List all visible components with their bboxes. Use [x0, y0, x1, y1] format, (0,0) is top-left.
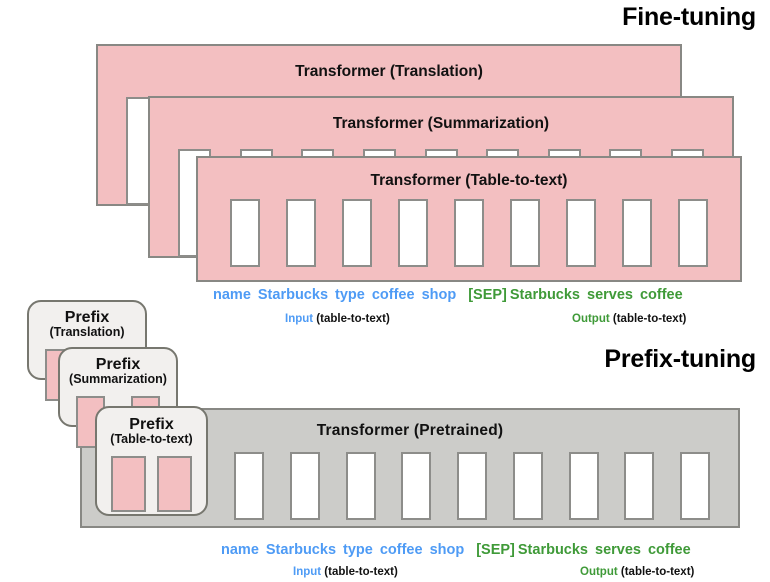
transformer-block-table-to-text: Transformer (Table-to-text)	[196, 156, 742, 282]
token-cell	[510, 199, 540, 267]
output-token: coffee	[648, 542, 691, 558]
output-token: coffee	[640, 287, 683, 303]
prefix-box-label: Prefix (Translation)	[29, 310, 145, 339]
input-token: shop	[430, 542, 465, 558]
token-cell	[234, 452, 264, 520]
token-cell	[457, 452, 487, 520]
token-cell	[286, 199, 316, 267]
input-token: name	[213, 287, 251, 303]
transformer-block-label: Transformer (Summarization)	[150, 115, 732, 133]
output-token: serves	[595, 542, 641, 558]
token-cell	[680, 452, 710, 520]
token-sequence-prefix-tuning: name Starbucks type coffee shop [SEP] St…	[221, 542, 691, 558]
input-token: name	[221, 542, 259, 558]
output-token: [SEP]	[476, 542, 515, 558]
input-token: type	[335, 287, 365, 303]
prefix-activation-cell	[111, 456, 146, 512]
input-token: shop	[422, 287, 457, 303]
token-cell	[401, 452, 431, 520]
token-cell	[454, 199, 484, 267]
input-token: Starbucks	[258, 287, 328, 303]
token-cell	[346, 452, 376, 520]
input-token: coffee	[372, 287, 415, 303]
token-cell	[513, 452, 543, 520]
prefix-box-label: Prefix (Summarization)	[60, 357, 176, 386]
input-token: coffee	[380, 542, 423, 558]
prefix-box-table-to-text: Prefix (Table-to-text)	[95, 406, 208, 516]
prefix-task: (Summarization)	[60, 373, 176, 386]
token-sequence-fine-tuning: name Starbucks type coffee shop [SEP] St…	[213, 287, 683, 303]
input-token: type	[343, 542, 373, 558]
output-caption-task: (table-to-text)	[610, 313, 687, 325]
output-token: serves	[587, 287, 633, 303]
prefix-activation-cell	[157, 456, 192, 512]
prefix-title: Prefix	[129, 416, 173, 433]
token-cell	[398, 199, 428, 267]
prefix-task: (Table-to-text)	[97, 433, 206, 446]
input-caption-fine-tuning: Input (table-to-text)	[285, 313, 390, 325]
prefix-task: (Translation)	[29, 326, 145, 339]
token-cell	[290, 452, 320, 520]
prefix-title: Prefix	[96, 356, 140, 373]
token-cell	[622, 199, 652, 267]
output-caption-prefix-tuning: Output (table-to-text)	[580, 566, 694, 578]
output-token: Starbucks	[518, 542, 588, 558]
output-token: Starbucks	[510, 287, 580, 303]
transformer-block-label: Transformer (Table-to-text)	[198, 172, 740, 190]
prefix-title: Prefix	[65, 309, 109, 326]
token-cell-row	[230, 199, 708, 267]
fine-tuning-section-title: Fine-tuning	[622, 3, 756, 32]
token-cell	[566, 199, 596, 267]
output-caption-label: Output	[580, 566, 618, 578]
prefix-activation-row	[111, 456, 192, 512]
output-caption-fine-tuning: Output (table-to-text)	[572, 313, 686, 325]
token-cell	[230, 199, 260, 267]
input-token: Starbucks	[266, 542, 336, 558]
token-cell	[342, 199, 372, 267]
input-caption-prefix-tuning: Input (table-to-text)	[293, 566, 398, 578]
token-cell	[624, 452, 654, 520]
token-cell	[678, 199, 708, 267]
transformer-block-label: Transformer (Translation)	[98, 63, 680, 81]
input-caption-task: (table-to-text)	[313, 313, 390, 325]
input-caption-label: Input	[293, 566, 321, 578]
input-caption-task: (table-to-text)	[321, 566, 398, 578]
token-cell-row	[234, 452, 710, 520]
output-caption-task: (table-to-text)	[618, 566, 695, 578]
prefix-box-label: Prefix (Table-to-text)	[97, 417, 206, 446]
token-cell	[569, 452, 599, 520]
prefix-tuning-section-title: Prefix-tuning	[604, 345, 756, 374]
output-caption-label: Output	[572, 313, 610, 325]
figure-canvas: Fine-tuning Transformer (Translation) Tr…	[0, 0, 770, 582]
output-token: [SEP]	[468, 287, 507, 303]
input-caption-label: Input	[285, 313, 313, 325]
